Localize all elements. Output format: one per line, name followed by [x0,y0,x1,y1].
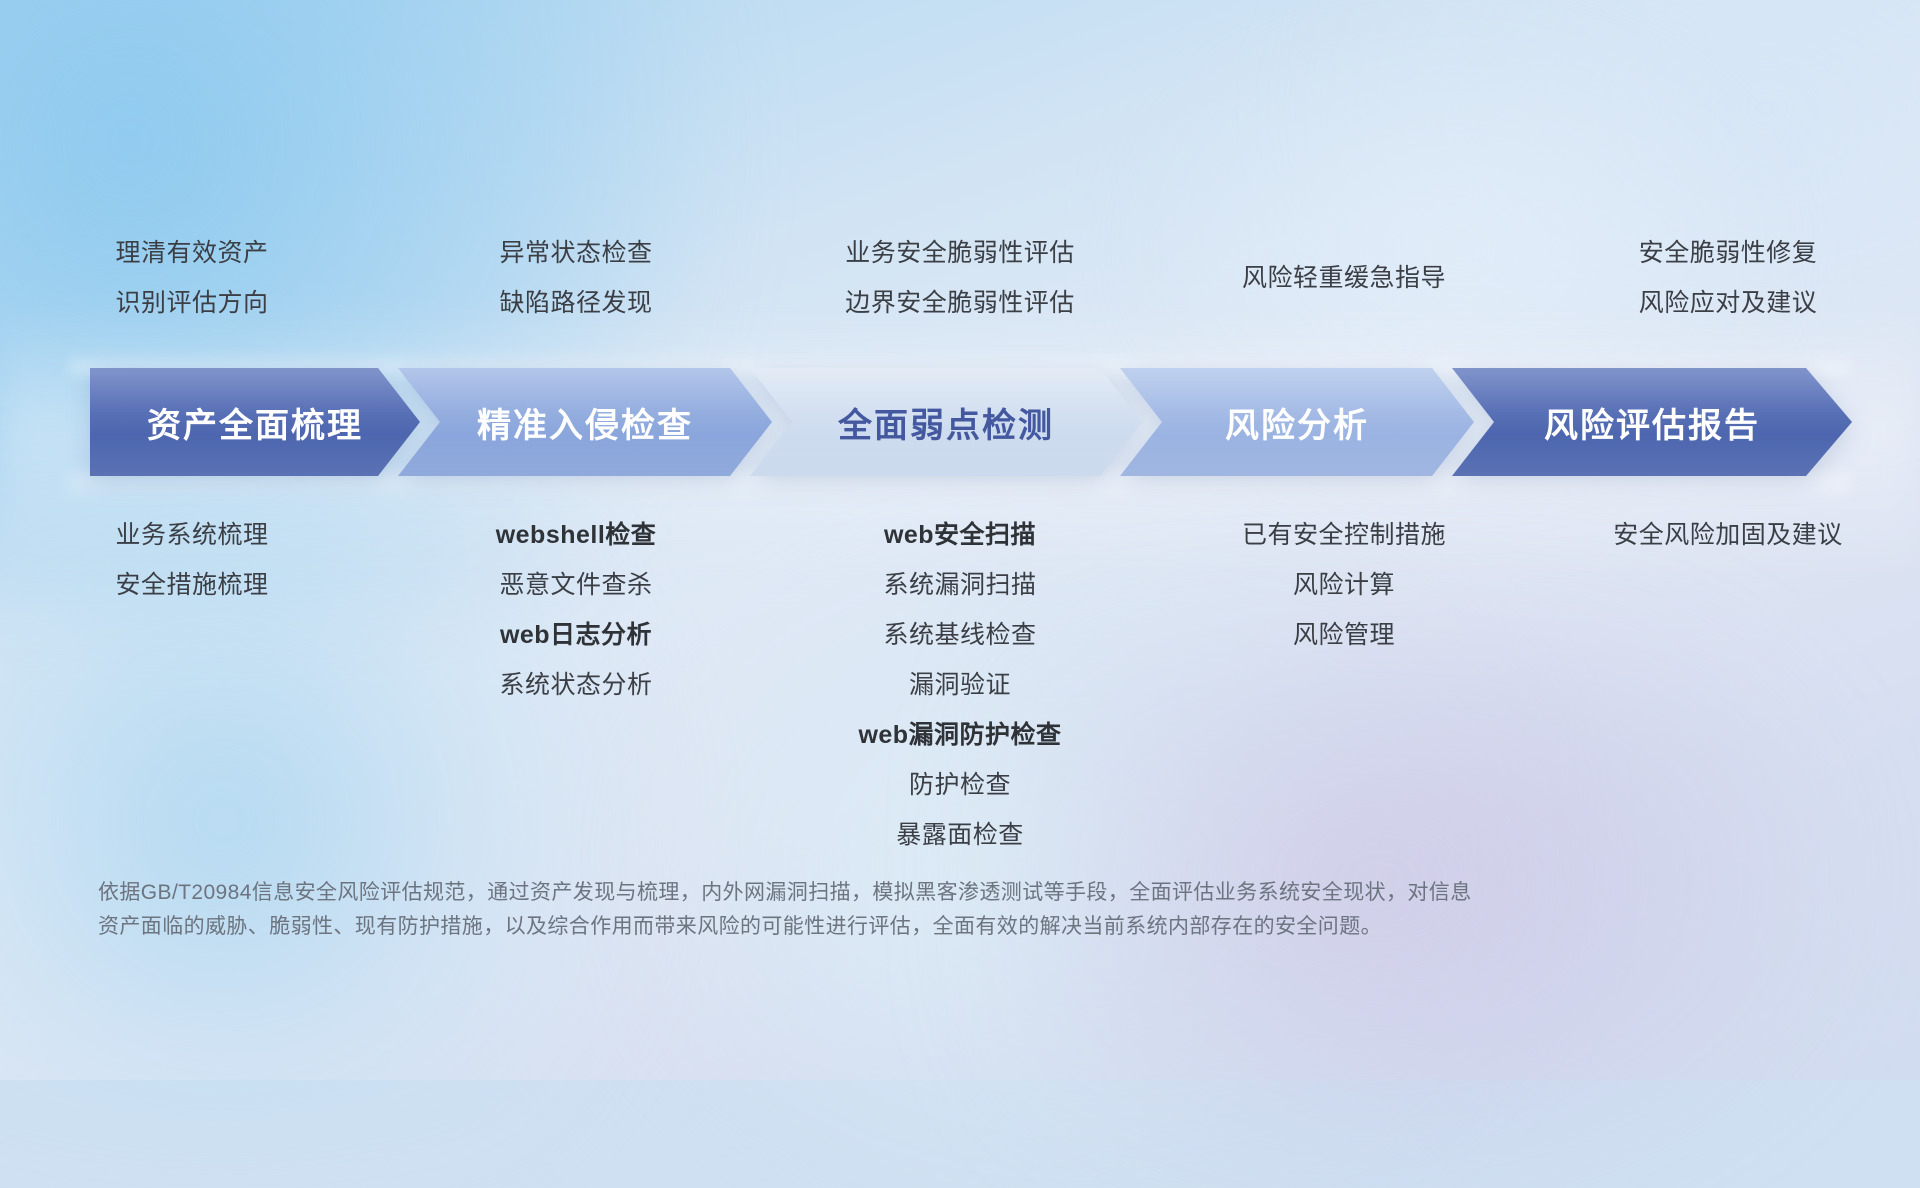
top-item: 缺陷路径发现 [499,278,652,328]
bottom-item: 漏洞验证 [909,660,1011,710]
bottom-item: web日志分析 [500,610,652,660]
top-column-asset-inventory: 理清有效资产 识别评估方向 [0,228,384,328]
top-column-weakness-detection: 业务安全脆弱性评估 边界安全脆弱性评估 [768,228,1152,328]
stage-arrow-label: 风险分析 [1225,398,1369,447]
stage-arrow-intrusion-check[interactable]: 精准入侵检查 [398,368,772,476]
bottom-item: 恶意文件查杀 [499,560,652,610]
bottom-column-weakness-detection: web安全扫描 系统漏洞扫描 系统基线检查 漏洞验证 web漏洞防护检查 防护检… [768,510,1152,860]
bottom-column-intrusion-check: webshell检查 恶意文件查杀 web日志分析 系统状态分析 [384,510,768,860]
bottom-item: 安全措施梳理 [115,560,268,610]
bottom-column-asset-inventory: 业务系统梳理 安全措施梳理 [0,510,384,860]
top-column-risk-analysis: 风险轻重缓急指导 [1152,228,1536,328]
top-item: 安全脆弱性修复 [1639,228,1818,278]
bottom-column-risk-report: 安全风险加固及建议 [1536,510,1920,860]
bottom-item: 安全风险加固及建议 [1613,510,1843,560]
stage-arrow-band: 资产全面梳理 精准入侵检查 全面弱点检测 风险分析 风险评估报告 [90,368,1832,476]
bottom-item: 风险管理 [1293,610,1395,660]
top-item: 风险应对及建议 [1639,278,1818,328]
top-item: 边界安全脆弱性评估 [845,278,1075,328]
top-column-risk-report: 安全脆弱性修复 风险应对及建议 [1536,228,1920,328]
footer-line-2: 资产面临的威胁、脆弱性、现有防护措施，以及综合作用而带来风险的可能性进行评估，全… [98,910,1658,944]
stage-arrow-risk-analysis[interactable]: 风险分析 [1120,368,1474,476]
bottom-item: 已有安全控制措施 [1242,510,1446,560]
bottom-item: 业务系统梳理 [115,510,268,560]
top-item: 识别评估方向 [115,278,268,328]
bottom-item: 系统基线检查 [883,610,1036,660]
top-item: 风险轻重缓急指导 [1242,253,1446,303]
bottom-item: 风险计算 [1293,560,1395,610]
stage-arrow-label: 资产全面梳理 [147,398,363,447]
top-column-intrusion-check: 异常状态检查 缺陷路径发现 [384,228,768,328]
bottom-detail-row: 业务系统梳理 安全措施梳理 webshell检查 恶意文件查杀 web日志分析 … [0,510,1920,860]
stage-arrow-asset-inventory[interactable]: 资产全面梳理 [90,368,420,476]
footer-description: 依据GB/T20984信息安全风险评估规范，通过资产发现与梳理，内外网漏洞扫描，… [98,876,1658,944]
footer-line-1: 依据GB/T20984信息安全风险评估规范，通过资产发现与梳理，内外网漏洞扫描，… [98,876,1658,910]
top-item: 理清有效资产 [115,228,268,278]
bottom-item: webshell检查 [496,510,657,560]
bottom-item: 暴露面检查 [896,810,1024,860]
process-diagram: 理清有效资产 识别评估方向 异常状态检查 缺陷路径发现 业务安全脆弱性评估 边界… [0,0,1920,1080]
top-item: 异常状态检查 [499,228,652,278]
stage-arrow-risk-report[interactable]: 风险评估报告 [1452,368,1852,476]
top-caption-row: 理清有效资产 识别评估方向 异常状态检查 缺陷路径发现 业务安全脆弱性评估 边界… [0,228,1920,328]
band-glow-bottom [70,474,1850,500]
stage-arrow-label: 全面弱点检测 [838,398,1054,447]
bottom-item: 系统漏洞扫描 [883,560,1036,610]
bottom-item: web安全扫描 [884,510,1036,560]
stage-arrow-label: 精准入侵检查 [477,398,693,447]
bottom-item: 防护检查 [909,760,1011,810]
stage-arrow-label: 风险评估报告 [1544,398,1760,447]
bottom-column-risk-analysis: 已有安全控制措施 风险计算 风险管理 [1152,510,1536,860]
bottom-item: web漏洞防护检查 [858,710,1061,760]
bottom-item: 系统状态分析 [499,660,652,710]
stage-arrow-weakness-detection[interactable]: 全面弱点检测 [750,368,1142,476]
top-item: 业务安全脆弱性评估 [845,228,1075,278]
